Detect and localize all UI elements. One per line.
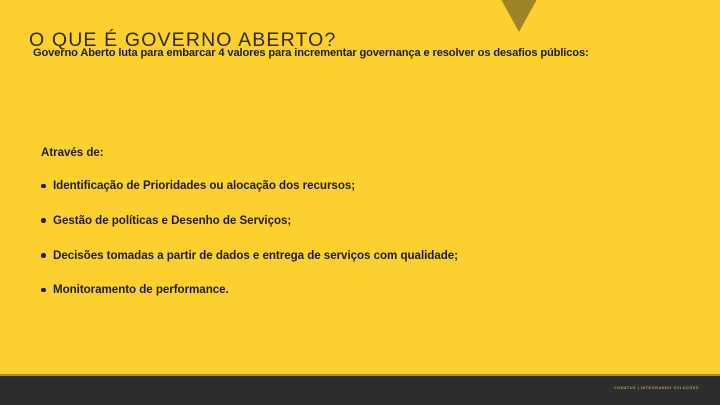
bullet-dot-icon xyxy=(41,218,46,223)
content-block: Através de: Identificação de Prioridades… xyxy=(41,146,661,297)
bullet-dot-icon xyxy=(41,288,46,293)
footer-bar xyxy=(0,376,720,405)
bullet-dot-icon xyxy=(41,253,46,258)
bullet-dot-icon xyxy=(41,184,46,189)
slide-canvas: O QUE É GOVERNO ABERTO? Governo Aberto l… xyxy=(0,0,720,405)
list-item: Monitoramento de performance. xyxy=(41,283,661,296)
triangle-down-icon xyxy=(497,0,541,32)
list-item-label: Decisões tomadas a partir de dados e ent… xyxy=(53,249,458,262)
bullet-list: Identificação de Prioridades ou alocação… xyxy=(41,179,661,297)
list-item-label: Monitoramento de performance. xyxy=(53,283,229,296)
list-item-label: Identificação de Prioridades ou alocação… xyxy=(53,179,355,192)
list-item: Decisões tomadas a partir de dados e ent… xyxy=(41,249,661,262)
intro-label: Através de: xyxy=(41,146,661,159)
list-item: Identificação de Prioridades ou alocação… xyxy=(41,179,661,192)
list-item-label: Gestão de políticas e Desenho de Serviço… xyxy=(53,214,291,227)
list-item: Gestão de políticas e Desenho de Serviço… xyxy=(41,214,661,227)
slide-subtitle: Governo Aberto luta para embarcar 4 valo… xyxy=(33,47,589,59)
footer-brand-label: CONATUS | INTEGRANDO SOLUÇÕES xyxy=(614,385,699,390)
